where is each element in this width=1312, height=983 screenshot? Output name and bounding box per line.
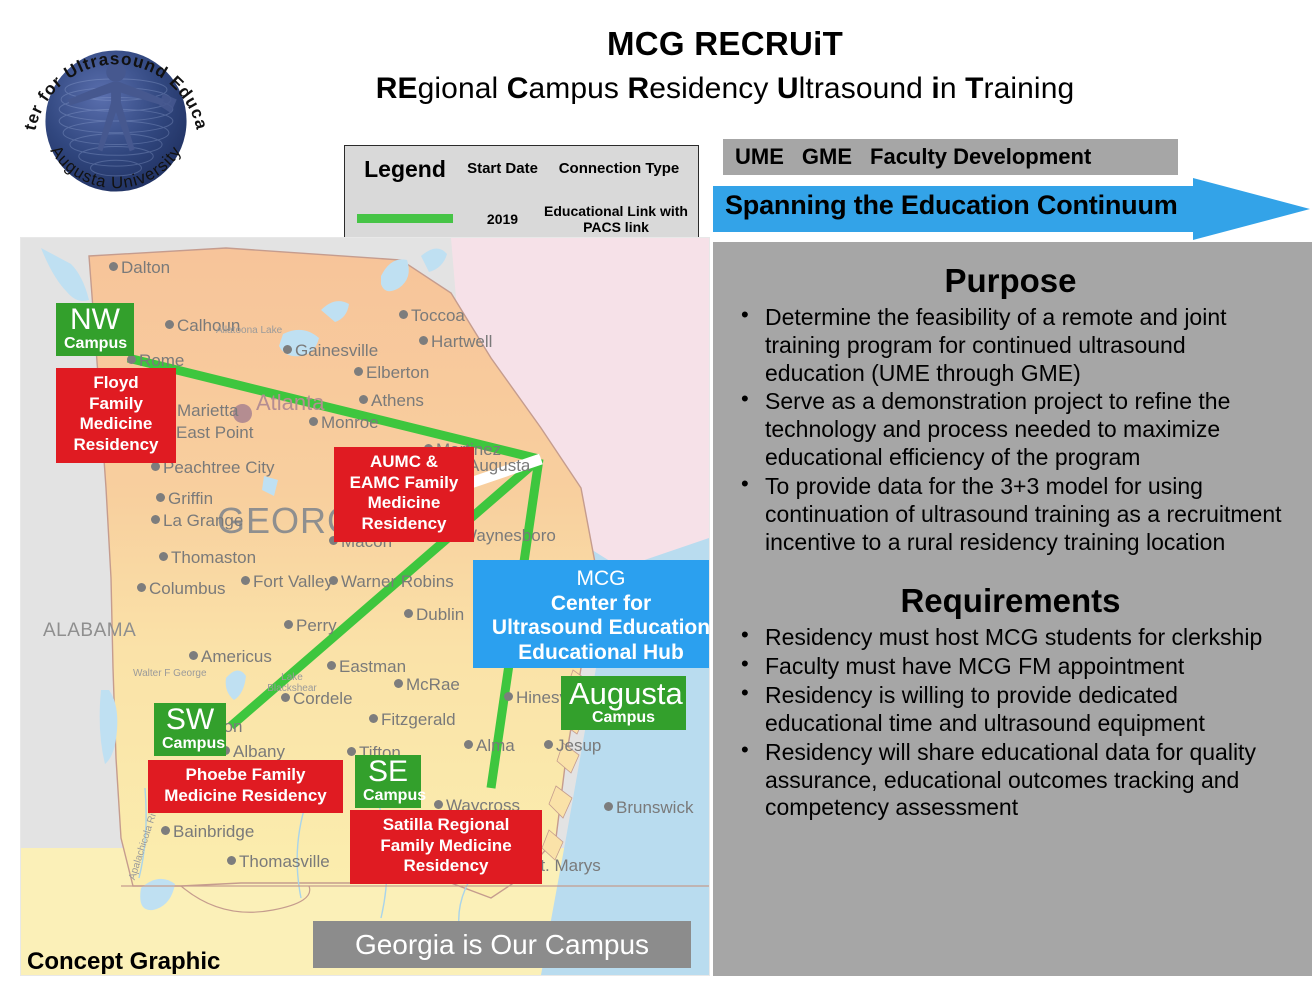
requirement-bullet-1: Residency must host MCG students for cle…	[735, 624, 1286, 652]
map-label-brunswick: Brunswick	[616, 798, 693, 818]
map-dot	[504, 692, 513, 701]
subtitle-fragment: gional	[418, 72, 507, 105]
continuum-tags-bar: UME GME Faculty Development	[723, 139, 1178, 175]
hub-line-mcg: MCG	[473, 567, 710, 592]
subtitle-fragment: RE	[376, 72, 418, 105]
map-dot	[156, 493, 165, 502]
georgia-map[interactable]: GEORGIA ALABAMA Atlanta DaltonCalhounToc…	[20, 237, 710, 976]
purpose-bullet-list: Determine the feasibility of a remote an…	[735, 304, 1286, 556]
subtitle-fragment: U	[777, 72, 799, 105]
map-label-americus: Americus	[201, 647, 272, 667]
legend-header-start-date: Start Date	[465, 161, 540, 178]
map-dot	[281, 693, 290, 702]
map-label-bainbridge: Bainbridge	[173, 822, 254, 842]
map-label-alma: Alma	[476, 736, 515, 756]
page-title: MCG RECRUiT	[330, 25, 1120, 63]
map-dot	[329, 576, 338, 585]
map-label-warner-robins: Warner Robins	[341, 572, 454, 592]
campus-box-augusta[interactable]: Augusta Campus	[561, 676, 686, 730]
purpose-bullet-3: To provide data for the 3+3 model for us…	[735, 473, 1286, 556]
campus-box-se[interactable]: SE Campus	[355, 755, 421, 808]
map-label-la-grange: La Grange	[163, 511, 243, 531]
legend-row-1-swatch-cell	[345, 214, 465, 223]
map-dot	[419, 336, 428, 345]
map-label-athens: Athens	[371, 391, 424, 411]
map-dot	[283, 345, 292, 354]
map-dot	[404, 609, 413, 618]
map-label-alabama: ALABAMA	[43, 620, 136, 642]
map-label-marietta: Marietta	[177, 401, 238, 421]
map-label-eastman: Eastman	[339, 657, 406, 677]
map-dot	[151, 515, 160, 524]
continuum-arrow-label: Spanning the Education Continuum	[725, 190, 1178, 221]
map-label-thomaston: Thomaston	[171, 548, 256, 568]
residency-box-aumc-eamc[interactable]: AUMC & EAMC Family Medicine Residency	[334, 447, 474, 542]
purpose-bullet-2: Serve as a demonstration project to refi…	[735, 388, 1286, 471]
map-label-perry: Perry	[296, 616, 337, 636]
hub-line-educational-hub: Educational Hub	[473, 641, 710, 666]
subtitle-fragment: T	[965, 72, 983, 105]
subtitle-fragment: C	[507, 72, 529, 105]
campus-sub-nw: Campus	[64, 336, 126, 352]
map-label-fort-valley: Fort Valley	[253, 572, 333, 592]
subtitle-fragment: esidency	[649, 72, 777, 105]
requirement-bullet-2: Faculty must have MCG FM appointment	[735, 653, 1286, 681]
legend-row-1-date: 2019	[465, 211, 540, 227]
map-dot	[354, 367, 363, 376]
subtitle-fragment: raining	[984, 72, 1075, 105]
residency-box-phoebe[interactable]: Phoebe Family Medicine Residency	[148, 760, 343, 813]
map-label-fitzgerald: Fitzgerald	[381, 710, 456, 730]
map-label-toccoa: Toccoa	[411, 306, 465, 326]
legend-header-connection-type: Connection Type	[540, 161, 698, 178]
map-dot	[189, 651, 198, 660]
map-dot	[137, 583, 146, 592]
map-label-waynesboro: Waynesboro	[461, 526, 556, 546]
requirements-heading: Requirements	[735, 582, 1286, 620]
map-dot	[109, 262, 118, 271]
campus-code-nw: NW	[64, 305, 126, 335]
hub-line-center-for: Center for	[473, 592, 710, 617]
subtitle-fragment: i	[931, 72, 939, 105]
center-for-ultrasound-education-logo: Center for Ultrasound Education Augusta …	[18, 23, 214, 219]
map-dot	[544, 740, 553, 749]
map-dot	[227, 856, 236, 865]
subtitle-fragment: ampus	[528, 72, 627, 105]
requirements-bullet-list: Residency must host MCG students for cle…	[735, 624, 1286, 822]
map-dot	[464, 740, 473, 749]
purpose-bullet-1: Determine the feasibility of a remote an…	[735, 304, 1286, 387]
map-dot	[127, 355, 136, 364]
residency-box-floyd[interactable]: Floyd Family Medicine Residency	[56, 368, 176, 463]
map-label-hartwell: Hartwell	[431, 332, 492, 352]
map-label-mcrae: McRae	[406, 675, 460, 695]
residency-box-satilla[interactable]: Satilla Regional Family Medicine Residen…	[350, 810, 542, 884]
map-dot	[284, 620, 293, 629]
campus-code-sw: SW	[162, 705, 218, 735]
continuum-tag-gme: GME	[802, 144, 852, 170]
map-label-augusta: Augusta	[468, 456, 530, 476]
map-label-albany: Albany	[233, 742, 285, 762]
campus-box-sw[interactable]: SW Campus	[154, 703, 226, 756]
page-subtitle: REgional Campus Residency Ultrasound in …	[330, 72, 1120, 106]
map-dot	[359, 395, 368, 404]
campus-code-augusta: Augusta	[569, 678, 678, 709]
campus-sub-sw: Campus	[162, 736, 218, 752]
map-label-monroe: Monroe	[321, 413, 379, 433]
map-label-atlanta: Atlanta	[256, 390, 325, 416]
legend-swatch-green	[357, 214, 453, 223]
map-label-thomasville: Thomasville	[239, 852, 330, 872]
map-label-peachtree-city: Peachtree City	[163, 458, 275, 478]
map-label-east-point: East Point	[176, 423, 254, 443]
map-dot	[165, 320, 174, 329]
campus-sub-augusta: Campus	[569, 710, 678, 726]
map-label-elberton: Elberton	[366, 363, 429, 383]
map-dot	[151, 462, 160, 471]
legend-row-1-type: Educational Link with PACS link	[540, 203, 698, 235]
georgia-is-our-campus-banner: Georgia is Our Campus	[313, 921, 691, 968]
map-label-lake-blackshear: Lake Blackshear	[264, 673, 320, 694]
map-dot	[161, 826, 170, 835]
legend-title: Legend	[345, 156, 465, 183]
map-dot	[604, 802, 613, 811]
subtitle-fragment: ltrasound	[799, 72, 932, 105]
map-label-columbus: Columbus	[149, 579, 226, 599]
subtitle-fragment: n	[940, 72, 965, 105]
continuum-tag-faculty-development: Faculty Development	[870, 144, 1091, 170]
map-dot	[434, 800, 443, 809]
map-label-walter-f-george: Walter F George	[133, 668, 207, 679]
map-label-dublin: Dublin	[416, 605, 464, 625]
requirement-bullet-4: Residency will share educational data fo…	[735, 739, 1286, 822]
campus-box-nw[interactable]: NW Campus	[56, 303, 134, 356]
purpose-heading: Purpose	[735, 262, 1286, 300]
hub-line-ultrasound-education: Ultrasound Education	[473, 616, 710, 641]
map-dot	[369, 714, 378, 723]
map-dot	[159, 552, 168, 561]
requirement-bullet-3: Residency is willing to provide dedicate…	[735, 682, 1286, 738]
campus-code-se: SE	[363, 757, 413, 787]
map-dot	[241, 576, 250, 585]
campus-sub-se: Campus	[363, 788, 413, 804]
educational-hub-box[interactable]: MCG Center for Ultrasound Education Educ…	[473, 560, 710, 668]
map-label-gainesville: Gainesville	[295, 341, 378, 361]
map-label-dalton: Dalton	[121, 258, 170, 278]
map-label-allatoona-lake: Allatoona Lake	[216, 325, 282, 336]
map-dot	[309, 417, 318, 426]
map-dot	[399, 310, 408, 319]
concept-graphic-label: Concept Graphic	[27, 948, 220, 976]
map-label-jesup: Jesup	[556, 736, 601, 756]
map-label-griffin: Griffin	[168, 489, 213, 509]
map-dot	[327, 661, 336, 670]
map-dot	[394, 679, 403, 688]
subtitle-fragment: R	[627, 72, 649, 105]
info-panel: Purpose Determine the feasibility of a r…	[713, 242, 1312, 976]
continuum-tag-ume: UME	[735, 144, 784, 170]
